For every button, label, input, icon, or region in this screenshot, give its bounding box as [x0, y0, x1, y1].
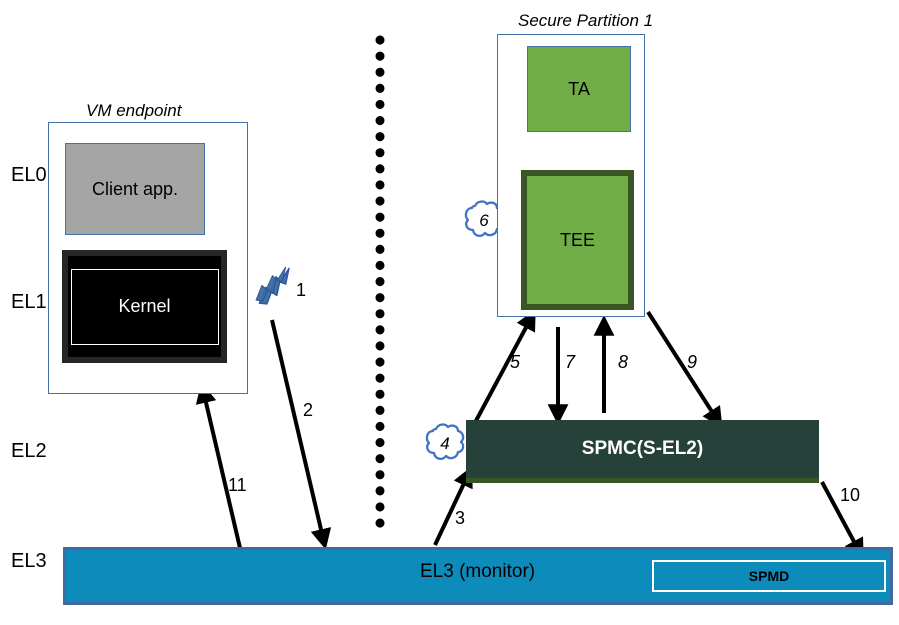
cloud-callout-6-label: 6	[463, 200, 505, 242]
arrow-9	[648, 312, 716, 418]
arrow-label-8: 8	[618, 352, 628, 373]
client-app-box[interactable]: Client app.	[65, 143, 205, 235]
vm-endpoint-caption: VM endpoint	[86, 101, 181, 121]
architecture-diagram: EL0 EL1 EL2 EL3 VM endpoint Client app. …	[0, 0, 899, 625]
exception-level-label-el2: EL2	[11, 440, 47, 463]
arrow-11	[204, 394, 240, 548]
arrow-label-1: 1	[296, 280, 306, 301]
arrow-5	[470, 320, 530, 432]
secure-partition-caption: Secure Partition 1	[518, 11, 653, 31]
el3-monitor-label: EL3 (monitor)	[420, 561, 535, 583]
kernel-box[interactable]: Kernel	[62, 250, 227, 363]
cloud-callout-4: 4	[424, 423, 466, 465]
exception-level-label-el3: EL3	[11, 550, 47, 573]
spmc-box[interactable]: SPMC(S-EL2)	[466, 420, 819, 483]
cloud-callout-4-label: 4	[424, 423, 466, 465]
arrow-label-3: 3	[455, 508, 465, 529]
exception-level-label-el1: EL1	[11, 291, 47, 314]
ta-box[interactable]: TA	[527, 46, 631, 132]
arrow-label-5: 5	[510, 352, 520, 373]
lightning-bolt-icon	[249, 266, 297, 306]
arrow-label-7: 7	[565, 352, 575, 373]
arrow-label-2: 2	[303, 400, 313, 421]
spmd-box[interactable]: SPMD	[652, 560, 886, 592]
arrow-label-9: 9	[687, 352, 697, 373]
tee-box[interactable]: TEE	[521, 170, 634, 310]
arrow-2	[272, 320, 323, 538]
exception-level-label-el0: EL0	[11, 164, 47, 187]
arrow-label-10: 10	[840, 485, 860, 506]
cloud-callout-6: 6	[463, 200, 505, 242]
arrow-label-11: 11	[228, 475, 247, 496]
